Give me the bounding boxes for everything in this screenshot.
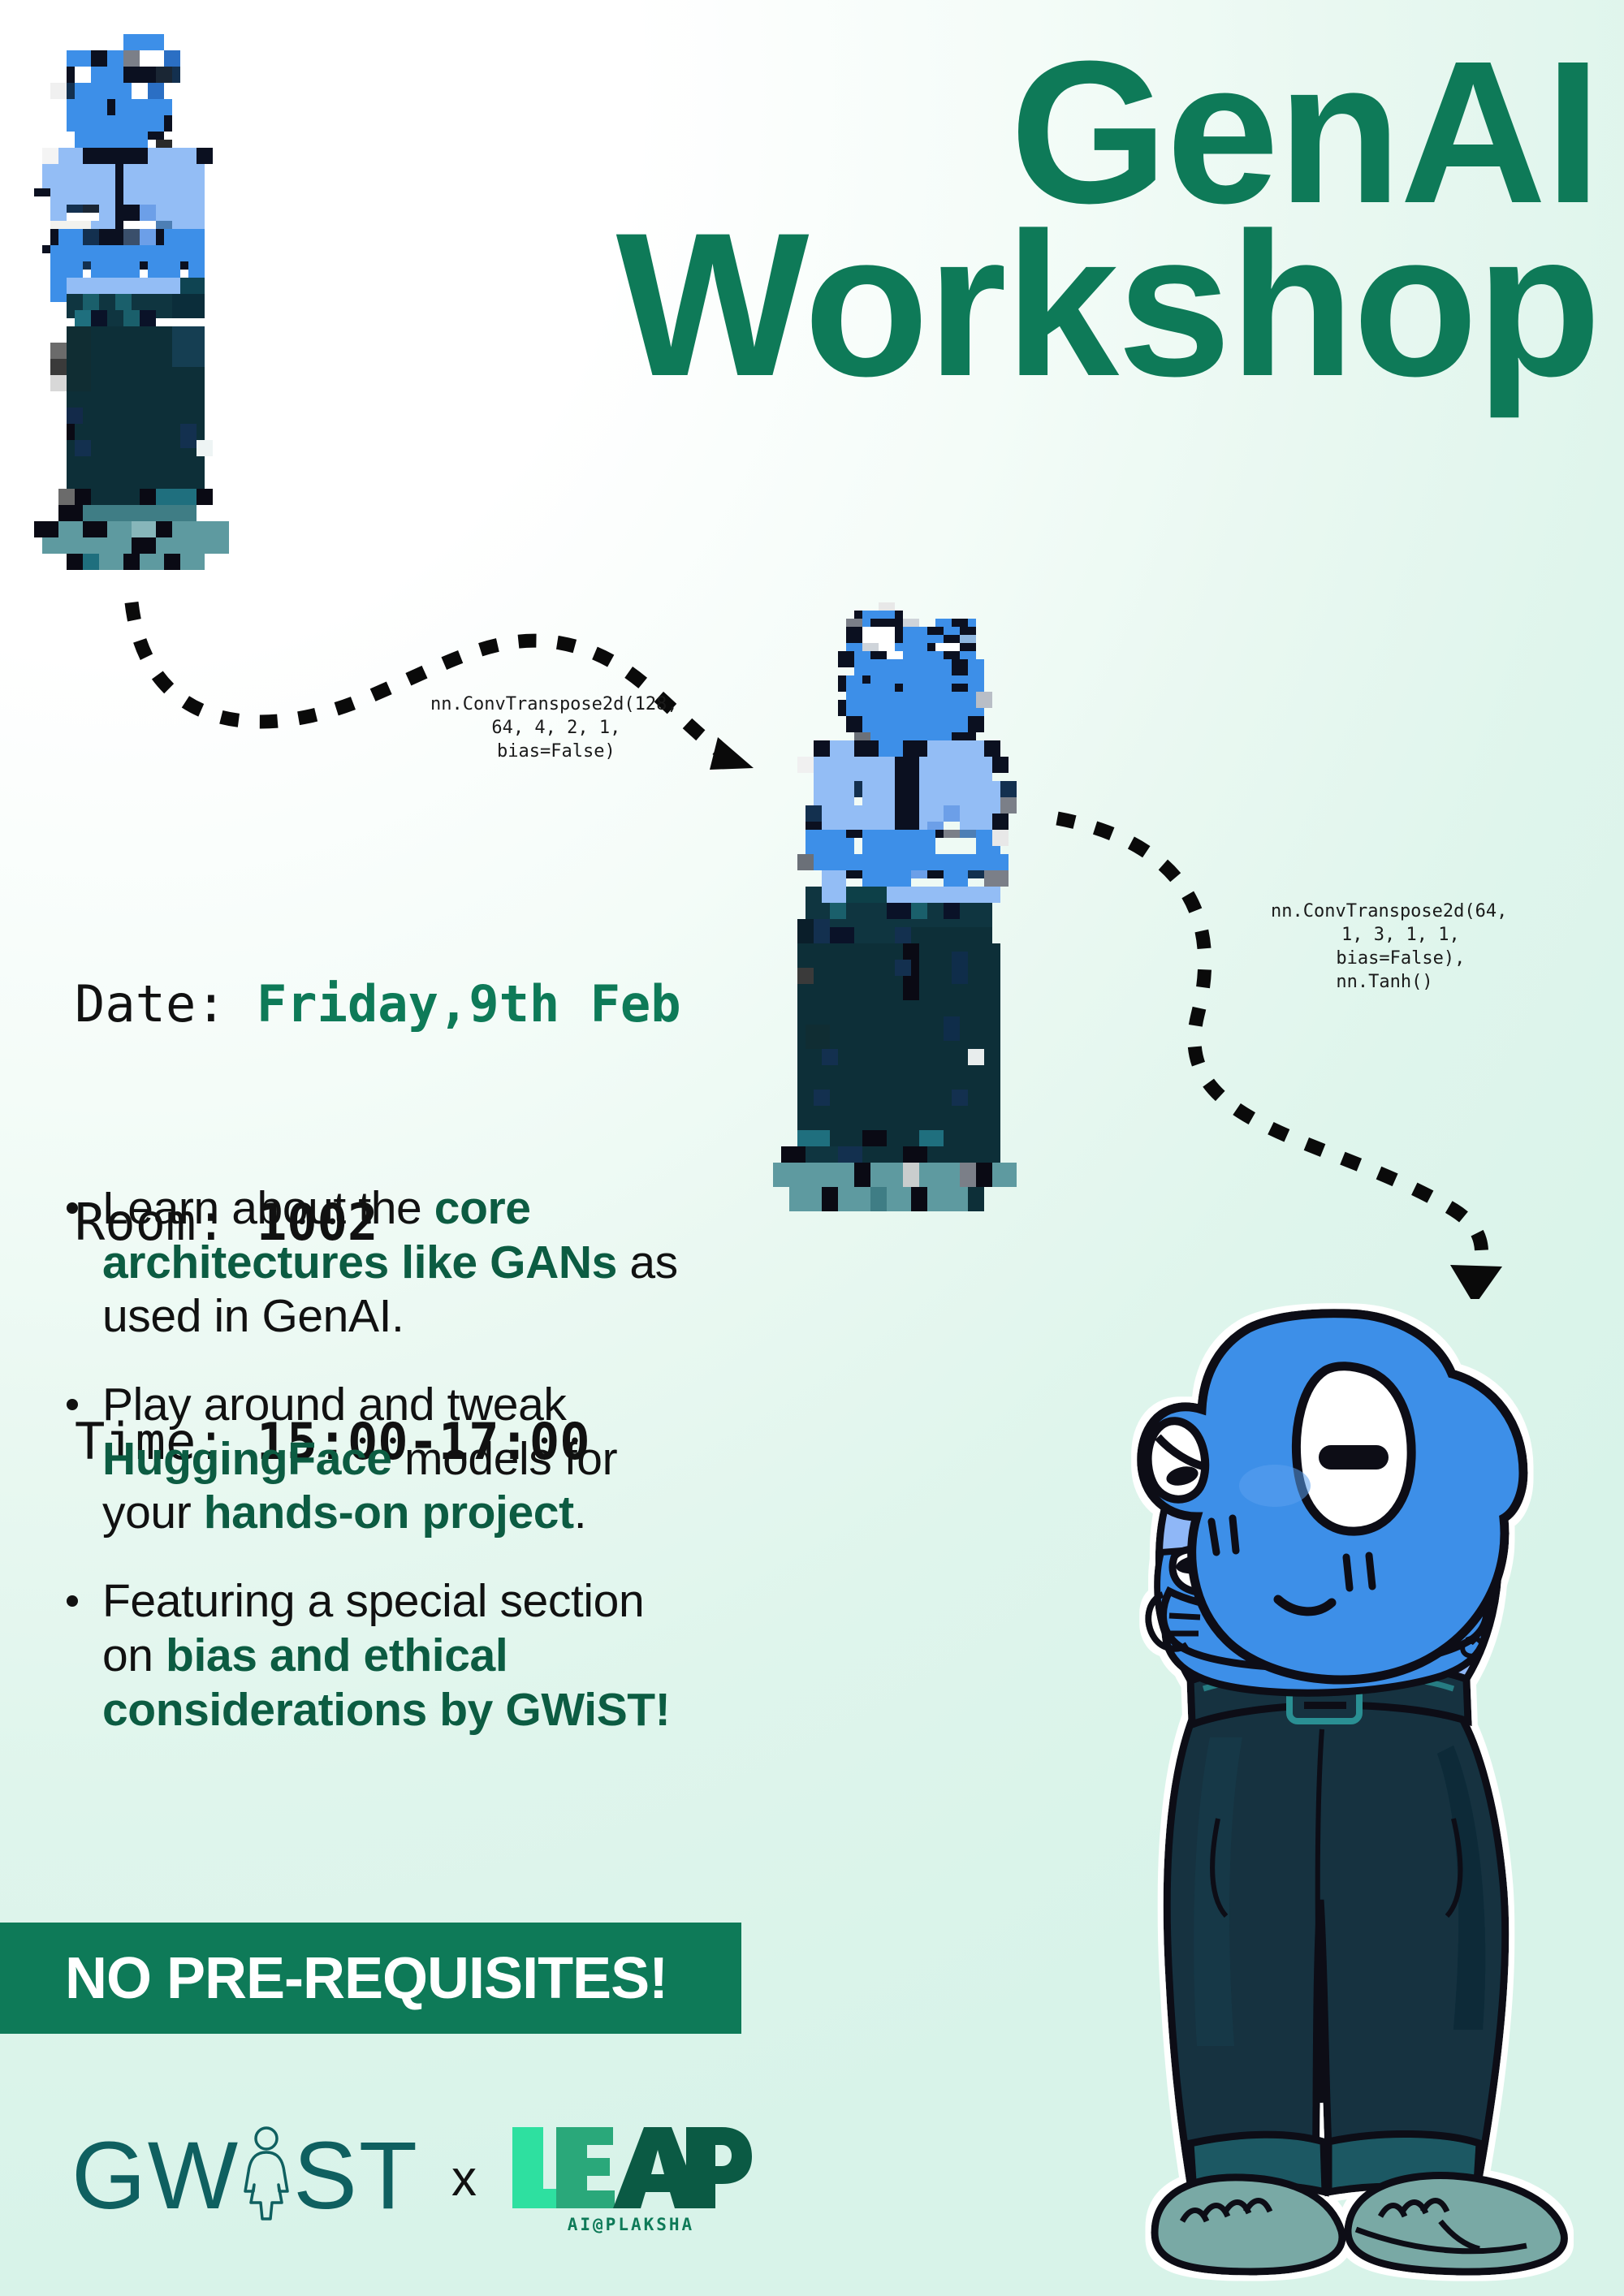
bullet-1-segment-1: Learn about the xyxy=(102,1182,434,1234)
leap-subtitle: AI@PLAKSHA xyxy=(509,2215,753,2234)
bullet-2-segment-2: HuggingFace xyxy=(102,1433,392,1485)
gwist-text-part-1: GW xyxy=(71,2121,240,2231)
female-figure-icon xyxy=(241,2125,292,2220)
footer-logos: GW ST x AI@PLAKSHA xyxy=(71,2121,753,2231)
feature-bullet-list: Learn about the core architectures like … xyxy=(55,1181,705,1771)
banner-text: NO PRE-REQUISITES! xyxy=(0,1945,667,2012)
date-label: Date: xyxy=(75,974,257,1034)
detail-row-date: Date: Friday,9th Feb xyxy=(75,968,681,1041)
feature-bullet-3: Featuring a special section on bias and … xyxy=(55,1574,705,1737)
logo-separator-x: x xyxy=(451,2150,477,2208)
dashed-arrow-two-icon xyxy=(1015,779,1624,1299)
code-annotation-convtranspose-128: nn.ConvTranspose2d(128, 64, 4, 2, 1, bia… xyxy=(430,693,650,763)
pixelated-frog-small-icon xyxy=(18,18,253,570)
date-value: Friday,9th Feb xyxy=(257,974,681,1034)
title-line-workshop: Workshop xyxy=(309,211,1600,399)
bullet-3-segment-2: bias and ethical considerations by GWiST… xyxy=(102,1629,670,1736)
bullet-2-segment-1: Play around and tweak xyxy=(102,1379,566,1431)
poster-title: GenAI Workshop xyxy=(309,39,1600,399)
gwist-text-part-2: ST xyxy=(293,2121,419,2231)
feature-bullet-2: Play around and tweak HuggingFace models… xyxy=(55,1378,705,1540)
pixelated-frog-medium-icon xyxy=(773,602,1017,1219)
leap-wordmark-icon xyxy=(509,2124,753,2212)
bullet-2-segment-5: . xyxy=(574,1487,586,1539)
poster-canvas: GenAI Workshop nn.ConvTranspose2d(128, 6… xyxy=(0,0,1624,2296)
bullet-2-segment-4: hands-on project xyxy=(204,1487,574,1539)
cartoon-frog-illustration xyxy=(1112,1250,1616,2281)
leap-logo: AI@PLAKSHA xyxy=(509,2124,753,2234)
feature-bullet-1: Learn about the core architectures like … xyxy=(55,1181,705,1344)
gwist-logo: GW ST xyxy=(71,2121,419,2231)
code-annotation-convtranspose-64: nn.ConvTranspose2d(64, 1, 3, 1, 1, bias=… xyxy=(1271,900,1498,994)
no-prerequisites-banner: NO PRE-REQUISITES! xyxy=(0,1923,741,2034)
